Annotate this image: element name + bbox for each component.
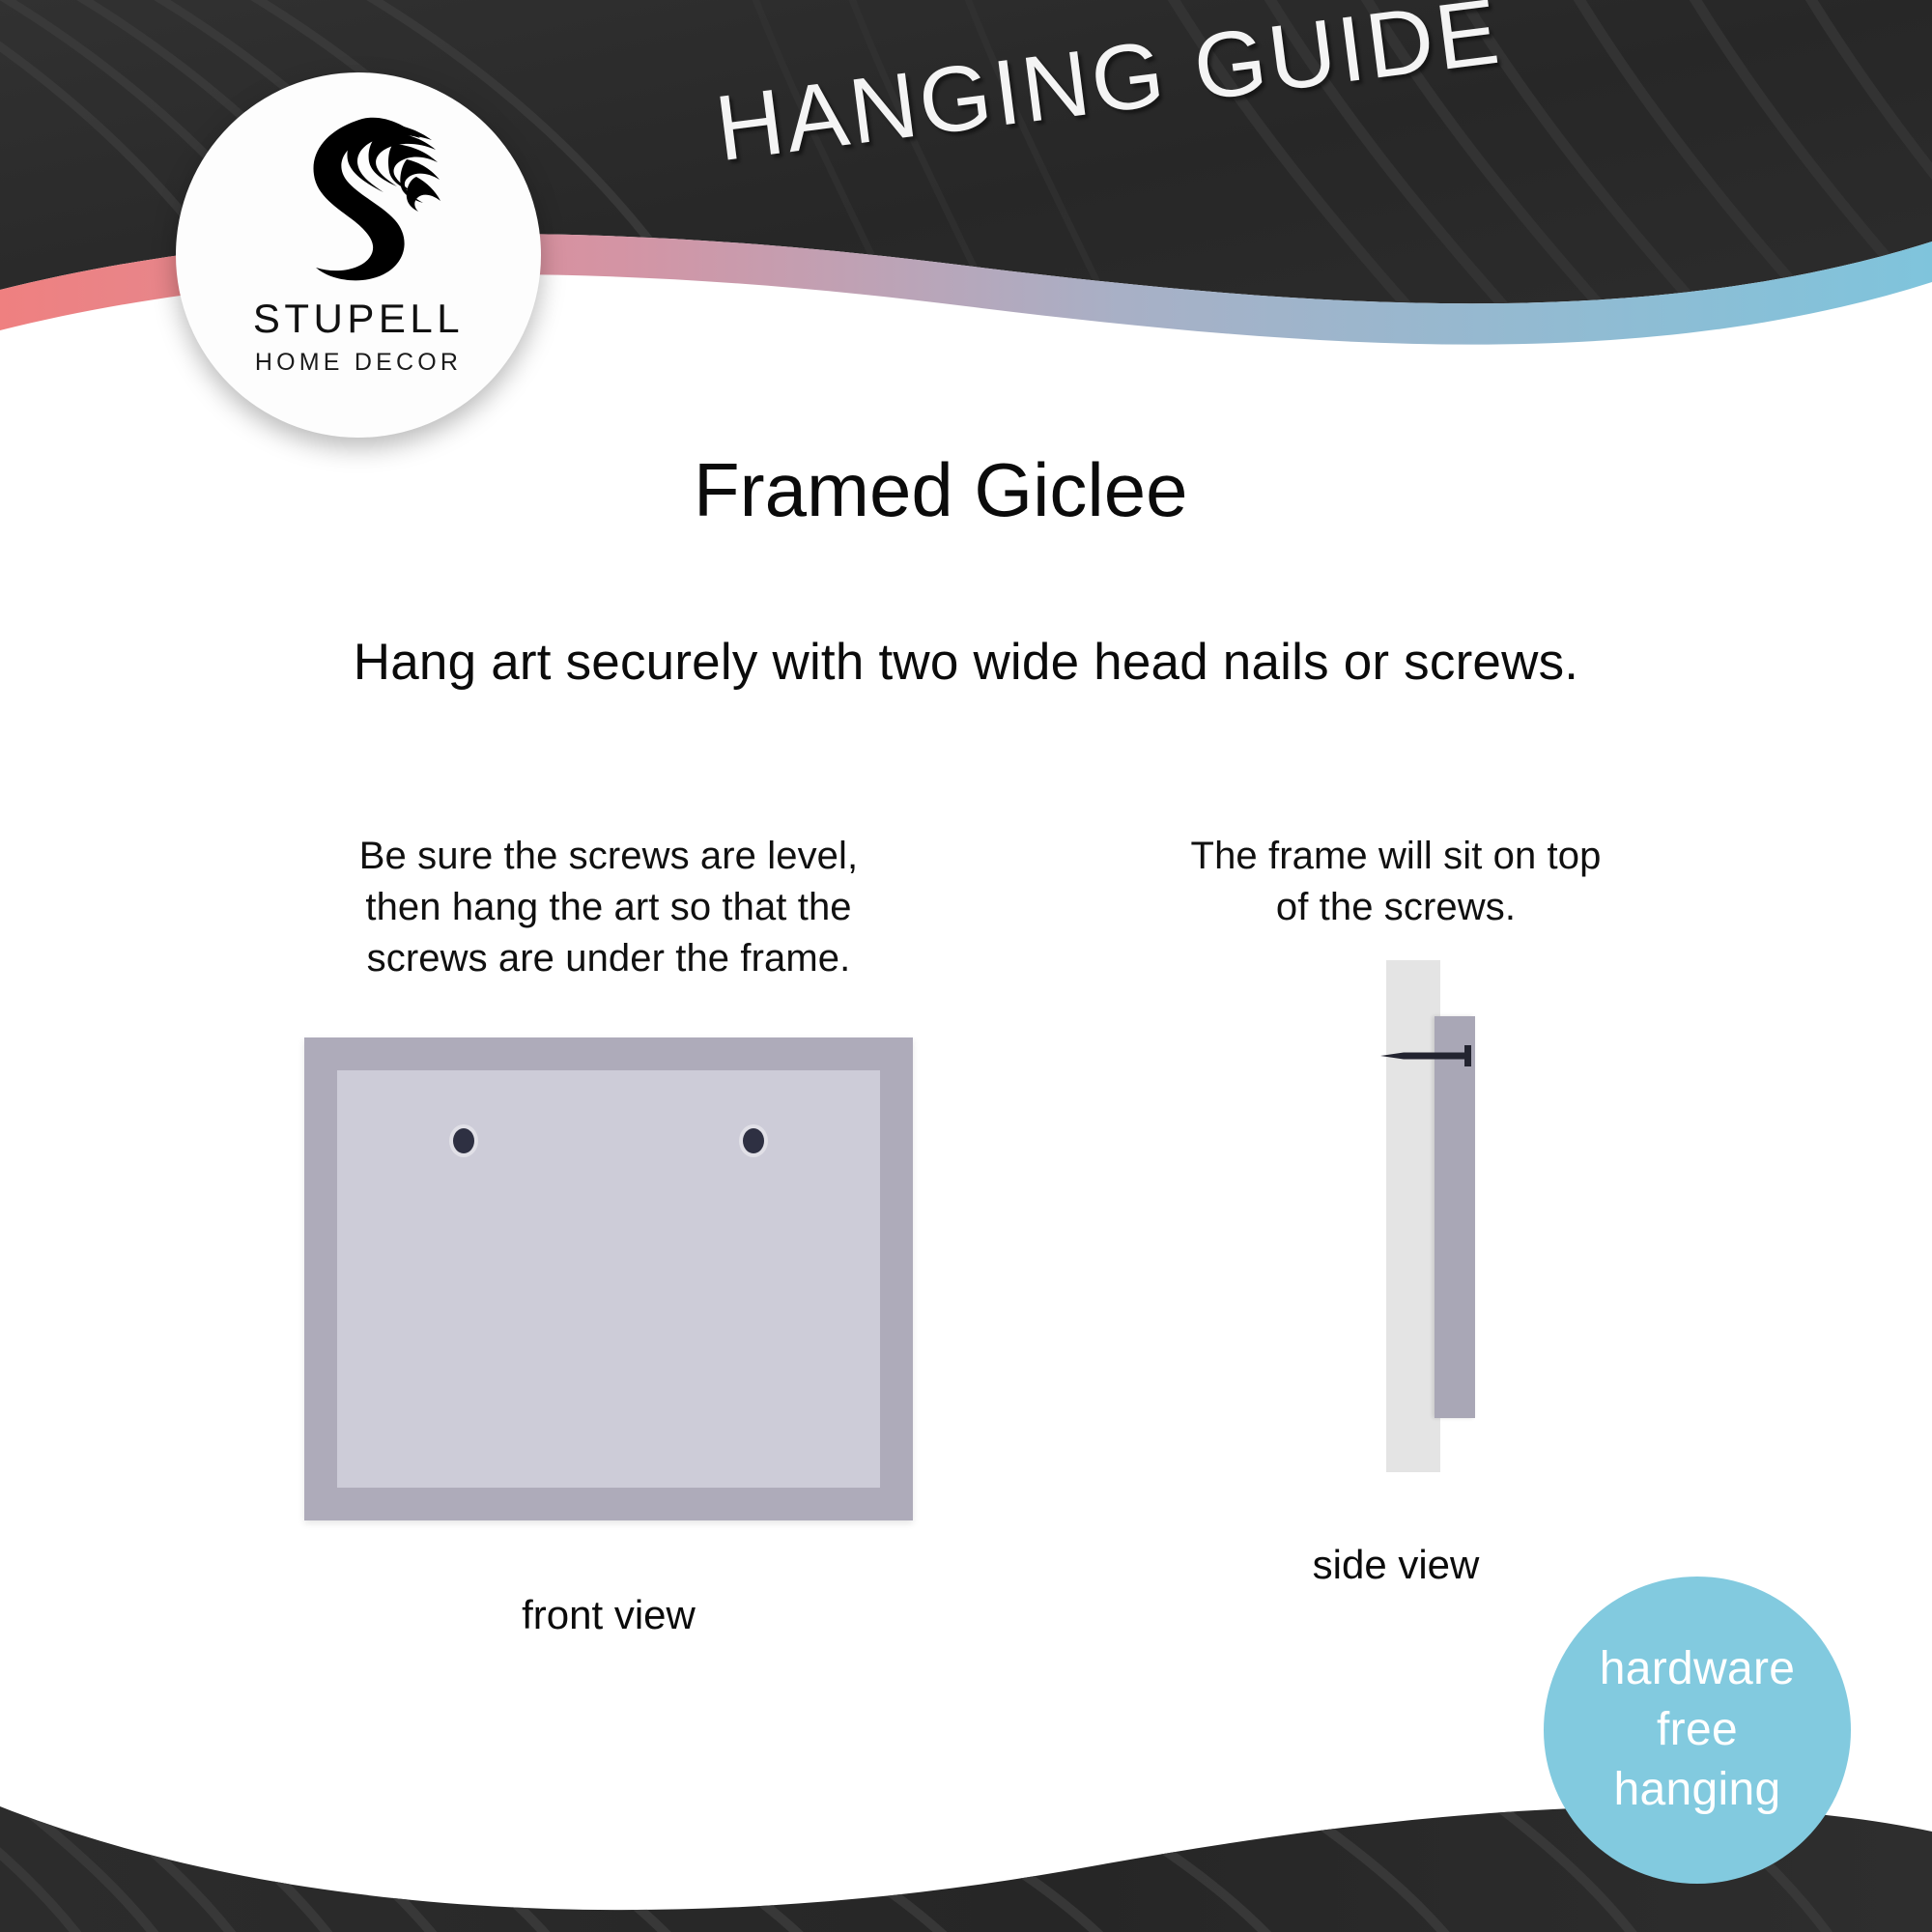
frame-cross-section [1435,1016,1475,1418]
frame-mat-panel [337,1070,880,1488]
brand-logo-badge: STUPELL HOME DECOR [176,72,541,438]
hardware-free-badge: hardware free hanging [1544,1577,1851,1884]
badge-line-3: hanging [1614,1760,1781,1820]
screw-dot-left [453,1128,474,1153]
product-type-title: Framed Giclee [694,446,1188,534]
side-caption-line-1: The frame will sit on top [1096,831,1695,882]
screw-dot-right [743,1128,764,1153]
front-view-illustration [261,1010,956,1551]
side-view-illustration [1096,960,1695,1501]
side-view-label: side view [1096,1542,1695,1588]
brand-wordmark: STUPELL [253,298,464,339]
nail-icon [1378,1043,1483,1068]
front-view-column: Be sure the screws are level, then hang … [261,831,956,1638]
brand-tagline: HOME DECOR [255,351,462,375]
front-caption-line-2: then hang the art so that the [261,882,956,933]
front-view-caption: Be sure the screws are level, then hang … [261,831,956,983]
side-caption-line-2: of the screws. [1096,882,1695,933]
badge-line-1: hardware [1600,1639,1796,1699]
instruction-lead-line: Hang art securely with two wide head nai… [0,633,1932,692]
frame-outer-border [304,1037,913,1520]
wall-cross-section [1386,960,1440,1472]
side-view-caption: The frame will sit on top of the screws. [1096,831,1695,933]
front-caption-line-1: Be sure the screws are level, [261,831,956,882]
front-caption-line-3: screws are under the frame. [261,933,956,984]
side-view-column: The frame will sit on top of the screws.… [1096,831,1695,1588]
front-view-label: front view [261,1592,956,1638]
badge-line-2: free [1657,1700,1738,1760]
hanging-guide-page: HANGING GUIDE STUPELL HOME DECOR Framed … [0,0,1932,1932]
stupell-swoosh-icon [262,107,455,291]
